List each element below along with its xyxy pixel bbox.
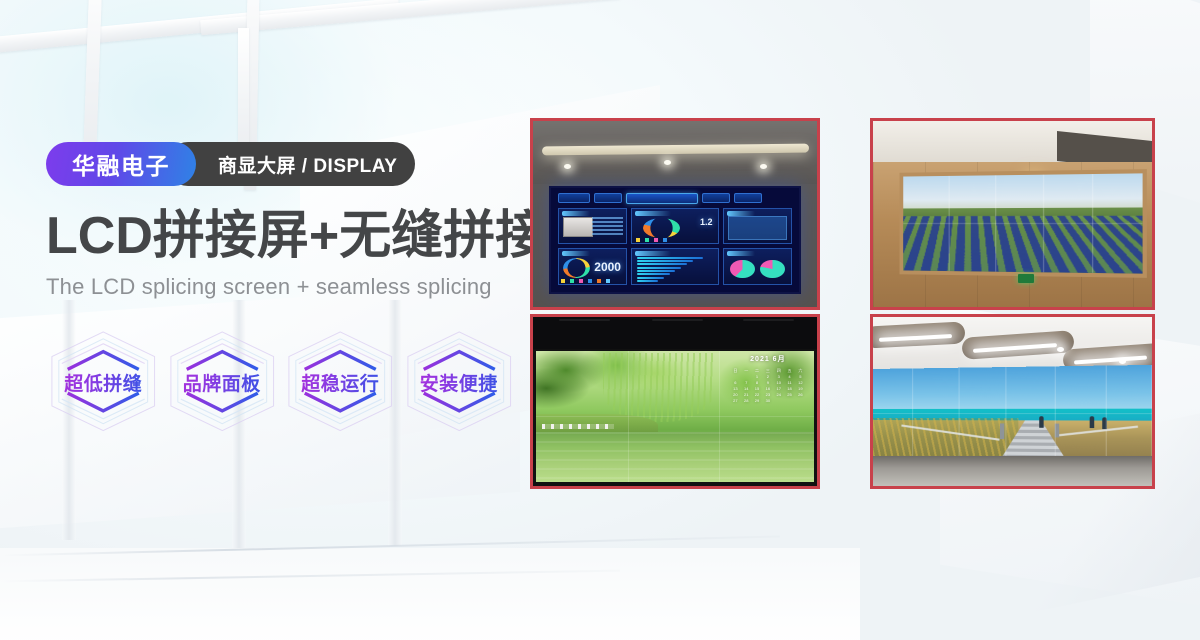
dashboard-panel bbox=[558, 208, 628, 245]
pie-chart bbox=[760, 260, 784, 278]
photo-content: 1.2 2000 bbox=[533, 121, 817, 307]
ceiling-beam bbox=[0, 0, 400, 54]
feature-badge-4: 安装便捷 bbox=[402, 326, 517, 438]
dashboard-chip bbox=[594, 193, 622, 203]
flow-diagram bbox=[728, 216, 788, 240]
dashboard-metric: 2000 bbox=[594, 260, 621, 274]
feature-list: 超低拼缝 品牌面板 bbox=[46, 326, 516, 438]
dashboard-panel: 1.2 bbox=[631, 208, 718, 245]
floor-line bbox=[0, 570, 620, 583]
photo-dashboard-video-wall[interactable]: 1.2 2000 bbox=[530, 118, 820, 310]
dashboard-panel bbox=[723, 248, 793, 285]
photo-content bbox=[873, 121, 1152, 307]
willow-branches bbox=[603, 353, 714, 421]
calendar-grid: 日一二三四五六 12345 6789101112 13141516171819 … bbox=[730, 368, 805, 403]
feature-label: 安装便捷 bbox=[420, 369, 498, 396]
category-pill: 商显大屏 / DISPLAY bbox=[166, 142, 415, 186]
video-wall-screen: 1.2 2000 bbox=[549, 186, 802, 294]
ceiling-spotlight bbox=[664, 160, 671, 165]
dashboard-chip bbox=[734, 193, 762, 203]
product-banner: 商显大屏 / DISPLAY 华融电子 LCD拼接屏+无缝拼接 The LCD … bbox=[0, 0, 1200, 640]
dashboard-chip bbox=[558, 193, 591, 203]
floor-surface bbox=[0, 548, 860, 640]
dashboard-thumbnail bbox=[563, 217, 593, 237]
page-subtitle: The LCD splicing screen + seamless splic… bbox=[46, 274, 516, 300]
railing bbox=[542, 424, 614, 429]
dashboard-title-bar bbox=[626, 193, 698, 204]
feature-label: 品牌面板 bbox=[183, 369, 261, 396]
dashboard-grid: 1.2 2000 bbox=[555, 205, 796, 288]
photo-content: 2021 6月 日一二三四五六 12345 6789101112 1314151… bbox=[533, 317, 817, 486]
screen-bezel bbox=[533, 317, 817, 349]
floor bbox=[873, 456, 1152, 486]
chart-legend bbox=[636, 238, 714, 242]
water-ripples bbox=[536, 432, 813, 482]
feature-label: 超稳运行 bbox=[301, 369, 379, 396]
video-wall-screen: 2021 6月 日一二三四五六 12345 6789101112 1314151… bbox=[536, 351, 813, 482]
feature-label: 超低拼缝 bbox=[64, 369, 142, 396]
ceiling-spotlight bbox=[564, 164, 571, 169]
ceiling-spotlight bbox=[1119, 359, 1126, 364]
exit-sign bbox=[1018, 274, 1034, 283]
sky bbox=[904, 174, 1143, 211]
dashboard-metric: 1.2 bbox=[700, 217, 713, 227]
video-wall-screen bbox=[900, 169, 1147, 277]
person-silhouette bbox=[1039, 417, 1043, 429]
donut-chart bbox=[563, 258, 590, 278]
photo-willow-lake-video-wall[interactable]: 2021 6月 日一二三四五六 12345 6789101112 1314151… bbox=[530, 314, 820, 489]
brand-name: 华融电子 bbox=[72, 147, 170, 181]
video-wall-screen bbox=[873, 365, 1152, 462]
category-label: 商显大屏 / DISPLAY bbox=[218, 151, 397, 178]
sky bbox=[873, 365, 1152, 415]
brand-pill: 华融电子 bbox=[46, 142, 196, 186]
feature-badge-2: 品牌面板 bbox=[165, 326, 280, 438]
chart-legend bbox=[561, 279, 623, 283]
page-title: LCD拼接屏+无缝拼接 bbox=[46, 208, 516, 264]
banner-content: 商显大屏 / DISPLAY 华融电子 LCD拼接屏+无缝拼接 The LCD … bbox=[46, 142, 516, 438]
photo-content bbox=[873, 317, 1152, 486]
dashboard-panel bbox=[723, 208, 793, 245]
photo-solar-field-video-wall[interactable] bbox=[870, 118, 1155, 310]
dashboard-panel bbox=[631, 248, 718, 285]
dashboard-panel: 2000 bbox=[558, 248, 628, 285]
feature-badge-1: 超低拼缝 bbox=[46, 326, 161, 438]
brand-row: 商显大屏 / DISPLAY 华融电子 bbox=[46, 142, 384, 186]
dashboard-textlines bbox=[592, 216, 623, 235]
solar-panels bbox=[900, 216, 1147, 278]
photo-beach-boardwalk-video-wall[interactable] bbox=[870, 314, 1155, 489]
dashboard-chip bbox=[702, 193, 730, 203]
calendar-overlay: 2021 6月 日一二三四五六 12345 6789101112 1314151… bbox=[730, 356, 805, 414]
dashboard-topbar bbox=[555, 192, 796, 204]
feature-badge-3: 超稳运行 bbox=[283, 326, 398, 438]
person-silhouette bbox=[1089, 417, 1094, 429]
pie-chart bbox=[730, 260, 754, 278]
bar-chart bbox=[637, 257, 714, 282]
ceiling-spotlight bbox=[760, 164, 767, 169]
floor-line bbox=[0, 535, 780, 556]
ceiling-beam bbox=[200, 0, 620, 35]
donut-chart bbox=[643, 218, 680, 238]
calendar-title: 2021 6月 bbox=[730, 356, 805, 365]
railing-post bbox=[1000, 424, 1004, 439]
